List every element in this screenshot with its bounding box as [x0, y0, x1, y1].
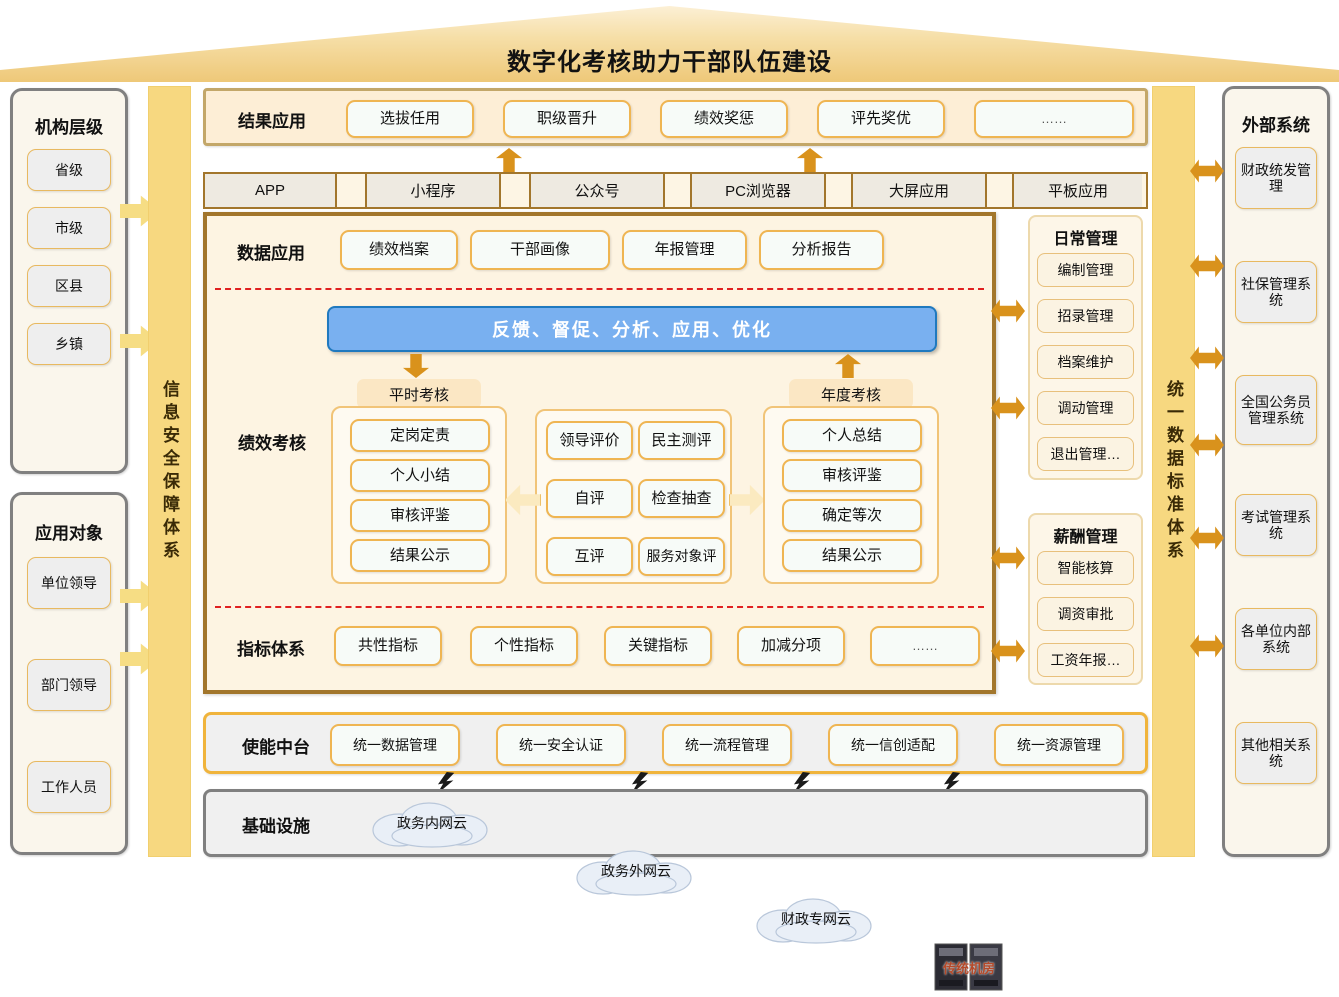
results-application-row: 结果应用 选拔任用 职级晋升 绩效奖惩 评先奖优 …… — [203, 88, 1148, 146]
method-item[interactable]: 民主测评 — [638, 421, 725, 460]
daily-management-item[interactable]: 档案维护 — [1037, 345, 1134, 379]
indicator-item[interactable]: 个性指标 — [470, 626, 578, 666]
external-system-item[interactable]: 其他相关系统 — [1235, 722, 1317, 784]
app-target-item[interactable]: 工作人员 — [27, 761, 111, 813]
routine-item[interactable]: 个人小结 — [350, 459, 490, 492]
sync-arrow-icon — [1190, 253, 1224, 279]
daily-management-item[interactable]: 调动管理 — [1037, 391, 1134, 425]
channel-gap — [987, 174, 1014, 207]
annual-item[interactable]: 确定等次 — [782, 499, 922, 532]
routine-item[interactable]: 定岗定责 — [350, 419, 490, 452]
data-application-item[interactable]: 绩效档案 — [340, 230, 458, 270]
indicator-item[interactable]: 关键指标 — [604, 626, 712, 666]
sync-arrow-icon — [991, 545, 1025, 571]
org-level-item[interactable]: 乡镇 — [27, 323, 111, 365]
feedback-loop-bar: 反馈、督促、分析、应用、优化 — [327, 306, 937, 352]
sync-arrow-icon — [1190, 525, 1224, 551]
server-label: 传统机房 — [933, 958, 1005, 977]
channel-item[interactable]: 大屏应用 — [853, 174, 987, 207]
org-levels-title: 机构层级 — [13, 113, 125, 138]
server-rack-icon: 传统机房 — [933, 942, 1005, 992]
channel-gap — [826, 174, 853, 207]
sync-arrow-icon — [991, 298, 1025, 324]
channel-item[interactable]: PC浏览器 — [692, 174, 826, 207]
app-target-item[interactable]: 部门领导 — [27, 659, 111, 711]
channel-item[interactable]: 平板应用 — [1014, 174, 1142, 207]
channel-bar: APP 小程序 公众号 PC浏览器 大屏应用 平板应用 — [203, 172, 1148, 209]
salary-management-item[interactable]: 工资年报… — [1037, 643, 1134, 677]
sync-arrow-icon — [991, 395, 1025, 421]
security-band-label: 信息安全保障体系 — [157, 380, 182, 564]
security-band: 信息安全保障体系 — [148, 86, 191, 857]
results-item[interactable]: 职级晋升 — [503, 100, 631, 138]
daily-management-panel: 日常管理 编制管理 招录管理 档案维护 调动管理 退出管理… — [1028, 215, 1143, 480]
enable-platform-item[interactable]: 统一信创适配 — [828, 724, 958, 766]
app-target-item[interactable]: 单位领导 — [27, 557, 111, 609]
org-level-item[interactable]: 市级 — [27, 207, 111, 249]
app-targets-panel: 应用对象 单位领导 部门领导 工作人员 — [10, 492, 128, 855]
page-title: 数字化考核助力干部队伍建设 — [0, 42, 1339, 77]
annual-assessment-tab: 年度考核 — [789, 379, 913, 409]
cloud-icon: 政务内网云 — [367, 800, 497, 848]
method-item[interactable]: 领导评价 — [546, 421, 633, 460]
cloud-icon: 财政专网云 — [751, 896, 881, 944]
enable-platform-item[interactable]: 统一流程管理 — [662, 724, 792, 766]
salary-management-item[interactable]: 智能核算 — [1037, 551, 1134, 585]
up-arrow-icon — [797, 148, 823, 172]
enable-platform-label: 使能中台 — [224, 729, 328, 761]
results-item[interactable]: …… — [974, 100, 1134, 138]
org-level-item[interactable]: 省级 — [27, 149, 111, 191]
org-level-item[interactable]: 区县 — [27, 265, 111, 307]
cloud-label: 政务内网云 — [367, 813, 497, 833]
results-item[interactable]: 评先奖优 — [817, 100, 945, 138]
right-arrow-icon — [729, 482, 763, 516]
channel-item[interactable]: APP — [205, 174, 337, 207]
data-standard-band-label: 统一数据标准体系 — [1161, 380, 1186, 564]
sync-arrow-icon — [1190, 432, 1224, 458]
infrastructure-row: 基础设施 政务内网云 政务外网云 — [203, 789, 1148, 857]
external-system-item[interactable]: 全国公务员管理系统 — [1235, 375, 1317, 445]
channel-item[interactable]: 小程序 — [367, 174, 501, 207]
section-divider — [215, 606, 984, 608]
external-system-item[interactable]: 考试管理系统 — [1235, 494, 1317, 556]
performance-assessment-label: 绩效考核 — [217, 424, 327, 458]
roof-banner: 数字化考核助力干部队伍建设 — [0, 0, 1339, 82]
org-levels-panel: 机构层级 省级 市级 区县 乡镇 — [10, 88, 128, 474]
routine-item[interactable]: 审核评鉴 — [350, 499, 490, 532]
salary-management-title: 薪酬管理 — [1030, 523, 1141, 547]
sync-arrow-icon — [1190, 633, 1224, 659]
daily-management-title: 日常管理 — [1030, 225, 1141, 249]
data-application-item[interactable]: 年报管理 — [622, 230, 747, 270]
results-application-label: 结果应用 — [220, 101, 324, 137]
daily-management-item[interactable]: 退出管理… — [1037, 437, 1134, 471]
assessment-methods-group: 领导评价 民主测评 自评 检查抽查 互评 服务对象评 — [535, 409, 732, 584]
channel-item[interactable]: 公众号 — [531, 174, 665, 207]
channel-gap — [665, 174, 692, 207]
annual-item[interactable]: 个人总结 — [782, 419, 922, 452]
section-divider — [215, 288, 984, 290]
external-systems-title: 外部系统 — [1225, 111, 1327, 136]
salary-management-panel: 薪酬管理 智能核算 调资审批 工资年报… — [1028, 513, 1143, 685]
results-item[interactable]: 选拔任用 — [346, 100, 474, 138]
salary-management-item[interactable]: 调资审批 — [1037, 597, 1134, 631]
data-application-item[interactable]: 分析报告 — [759, 230, 884, 270]
channel-gap — [501, 174, 531, 207]
sync-arrow-icon — [991, 638, 1025, 664]
external-system-item[interactable]: 各单位内部系统 — [1235, 608, 1317, 670]
method-item[interactable]: 服务对象评 — [638, 537, 725, 576]
method-item[interactable]: 互评 — [546, 537, 633, 576]
left-arrow-icon — [505, 482, 539, 516]
results-item[interactable]: 绩效奖惩 — [660, 100, 788, 138]
routine-assessment-tab: 平时考核 — [357, 379, 481, 409]
indicator-item[interactable]: 加减分项 — [737, 626, 845, 666]
enable-platform-item[interactable]: 统一数据管理 — [330, 724, 460, 766]
channel-gap — [337, 174, 367, 207]
sync-arrow-icon — [1190, 345, 1224, 371]
routine-item[interactable]: 结果公示 — [350, 539, 490, 572]
routine-assessment-group: 定岗定责 个人小结 审核评鉴 结果公示 — [331, 406, 507, 584]
cloud-icon: 政务外网云 — [571, 848, 701, 896]
data-standard-band: 统一数据标准体系 — [1152, 86, 1195, 857]
cloud-label: 财政专网云 — [751, 909, 881, 929]
external-system-item[interactable]: 财政统发管理 — [1235, 147, 1317, 209]
data-application-label: 数据应用 — [219, 234, 323, 268]
external-systems-panel: 外部系统 财政统发管理 社保管理系统 全国公务员管理系统 考试管理系统 各单位内… — [1222, 86, 1330, 857]
infrastructure-label: 基础设施 — [224, 808, 328, 840]
enable-platform-item[interactable]: 统一安全认证 — [496, 724, 626, 766]
annual-item[interactable]: 审核评鉴 — [782, 459, 922, 492]
enable-platform-row: 使能中台 统一数据管理 统一安全认证 统一流程管理 统一信创适配 统一资源管理 — [203, 712, 1148, 774]
indicator-item[interactable]: …… — [870, 626, 980, 666]
annual-item[interactable]: 结果公示 — [782, 539, 922, 572]
sync-arrow-icon — [1190, 158, 1224, 184]
method-item[interactable]: 检查抽查 — [638, 479, 725, 518]
daily-management-item[interactable]: 招录管理 — [1037, 299, 1134, 333]
indicators-label: 指标体系 — [219, 629, 323, 665]
enable-platform-item[interactable]: 统一资源管理 — [994, 724, 1124, 766]
method-item[interactable]: 自评 — [546, 479, 633, 518]
annual-assessment-group: 个人总结 审核评鉴 确定等次 结果公示 — [763, 406, 939, 584]
indicator-item[interactable]: 共性指标 — [334, 626, 442, 666]
data-application-item[interactable]: 干部画像 — [470, 230, 610, 270]
up-arrow-icon — [496, 148, 522, 172]
external-system-item[interactable]: 社保管理系统 — [1235, 261, 1317, 323]
daily-management-item[interactable]: 编制管理 — [1037, 253, 1134, 287]
cloud-label: 政务外网云 — [571, 861, 701, 881]
down-arrow-icon — [403, 354, 429, 378]
up-arrow-icon — [835, 354, 861, 378]
app-targets-title: 应用对象 — [13, 519, 125, 544]
